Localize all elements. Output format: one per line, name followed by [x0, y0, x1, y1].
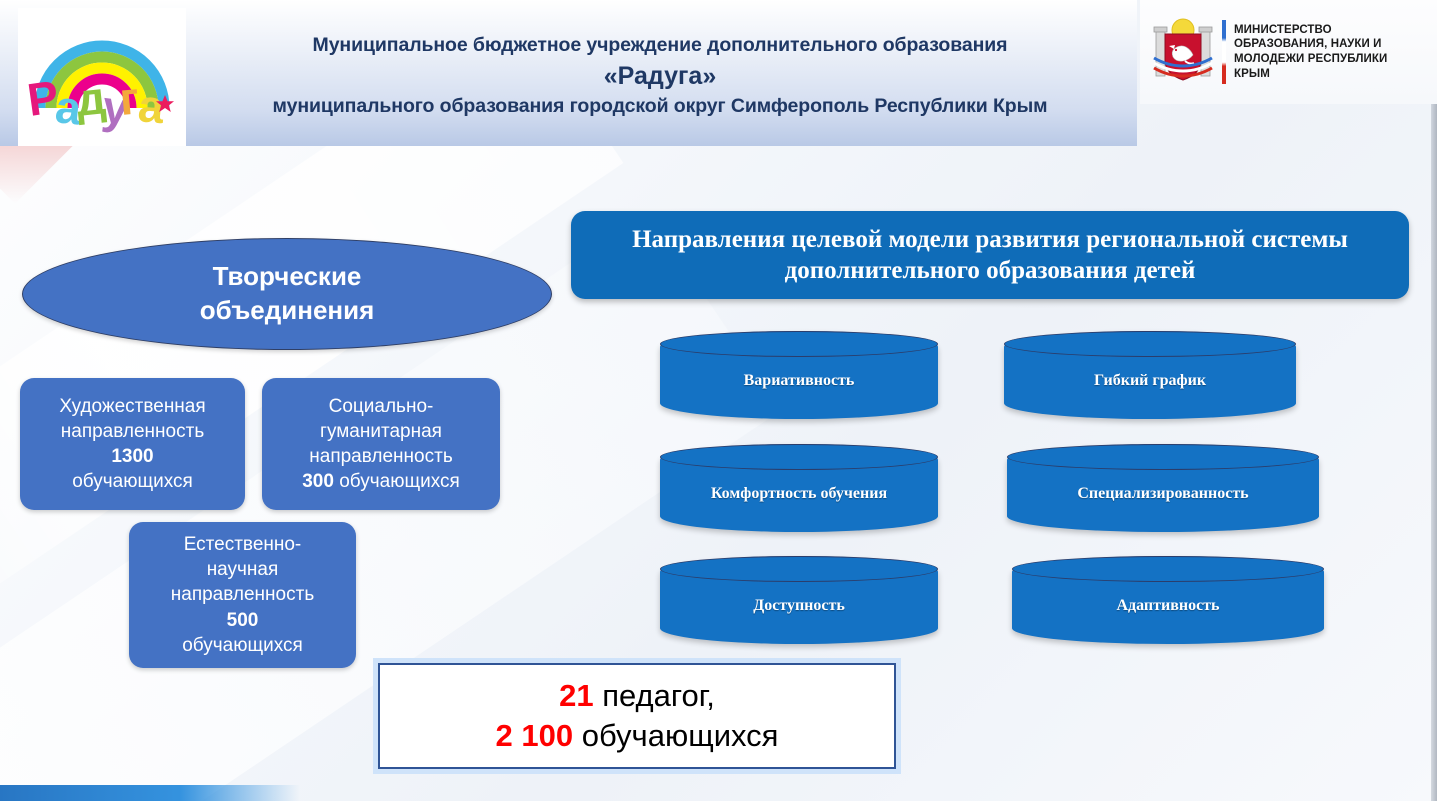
card-soc-line3: направленность: [302, 444, 460, 469]
card-sci-line2: научная: [171, 557, 314, 582]
card-art-line1: Художественная: [59, 394, 205, 419]
ministry-block: МИНИСТЕРСТВО ОБРАЗОВАНИЯ, НАУКИ И МОЛОДЕ…: [1140, 0, 1437, 104]
target-model-banner: Направления целевой модели развития реги…: [571, 211, 1409, 299]
raduga-rainbow-logo-icon: Р а д у г а: [22, 12, 182, 142]
tricolor-divider: [1222, 20, 1226, 84]
ministry-line1: МИНИСТЕРСТВО: [1234, 23, 1387, 38]
stats-students-row: 2 100 обучающихся: [496, 716, 779, 756]
cylinder-label: Вариативность: [734, 372, 865, 390]
cylinder-variativnost: Вариативность: [660, 331, 938, 419]
card-sci-count: 500: [227, 610, 259, 631]
cylinder-gibkiy-grafik: Гибкий график: [1004, 331, 1296, 419]
cylinder-label: Доступность: [743, 597, 855, 615]
creative-associations-ellipse: Творческие объединения: [22, 238, 552, 350]
direction-card-art: Художественная направленность 1300 обуча…: [20, 378, 245, 510]
card-sci-line1: Естественно-: [171, 532, 314, 557]
stats-teachers-count: 21: [559, 678, 593, 713]
direction-card-social: Социально- гуманитарная направленность 3…: [262, 378, 500, 510]
card-sci-line3: направленность: [171, 582, 314, 607]
stats-teachers-row: 21 педагог,: [559, 676, 715, 716]
card-sci-line5: обучающихся: [171, 633, 314, 658]
cylinder-label: Гибкий график: [1084, 372, 1216, 390]
header-title-line1: Муниципальное бюджетное учреждение допол…: [313, 33, 1008, 57]
card-soc-line2: гуманитарная: [302, 419, 460, 444]
cylinder-label: Адаптивность: [1106, 597, 1229, 615]
banner-line2: дополнительного образования детей: [632, 255, 1348, 286]
card-art-line2: направленность: [59, 419, 205, 444]
background-bottom-blue-bar: [0, 785, 300, 801]
stats-students-label: обучающихся: [582, 718, 779, 753]
ellipse-line1: Творческие: [200, 260, 375, 294]
card-soc-suffix: обучающихся: [339, 471, 460, 492]
slide-canvas: Р а д у г а Муниципальное бюджетное учре…: [0, 0, 1437, 801]
ministry-line2: ОБРАЗОВАНИЯ, НАУКИ И: [1234, 37, 1387, 52]
ministry-name: МИНИСТЕРСТВО ОБРАЗОВАНИЯ, НАУКИ И МОЛОДЕ…: [1234, 23, 1387, 82]
ministry-line3: МОЛОДЕЖИ РЕСПУБЛИКИ: [1234, 52, 1387, 67]
summary-stats-box: 21 педагог, 2 100 обучающихся: [378, 663, 896, 769]
stats-students-count: 2 100: [496, 718, 574, 753]
header-title-line2: «Радуга»: [604, 60, 716, 93]
card-soc-line1: Социально-: [302, 394, 460, 419]
header-title-block: Муниципальное бюджетное учреждение допол…: [190, 18, 1130, 134]
organization-logo: Р а д у г а: [18, 8, 186, 146]
crimea-coat-of-arms-icon: [1152, 16, 1214, 88]
card-art-count: 1300: [111, 446, 153, 467]
cylinder-label: Комфортность обучения: [701, 485, 897, 503]
cylinder-dostupnost: Доступность: [660, 556, 938, 644]
direction-card-science: Естественно- научная направленность 500 …: [129, 522, 356, 668]
ministry-line4: КРЫМ: [1234, 67, 1387, 82]
ellipse-line2: объединения: [200, 294, 375, 328]
cylinder-specializirovannost: Специализированность: [1007, 444, 1319, 532]
card-soc-count: 300: [302, 471, 334, 492]
header-title-line3: муниципального образования городской окр…: [273, 94, 1048, 118]
card-art-line4: обучающихся: [59, 469, 205, 494]
cylinder-adaptivnost: Адаптивность: [1012, 556, 1324, 644]
background-right-edge: [1431, 0, 1437, 801]
cylinder-komfortnost-obucheniya: Комфортность обучения: [660, 444, 938, 532]
banner-line1: Направления целевой модели развития реги…: [632, 224, 1348, 255]
cylinder-label: Специализированность: [1067, 485, 1258, 503]
stats-teachers-label: педагог,: [602, 678, 715, 713]
